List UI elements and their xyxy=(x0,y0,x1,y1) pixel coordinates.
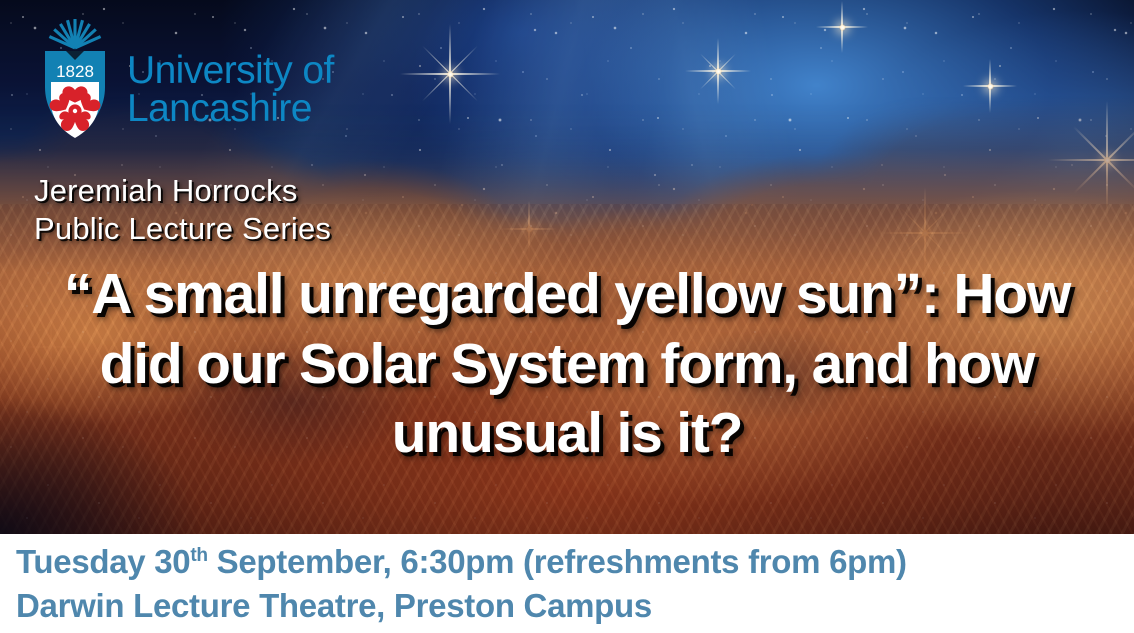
background-nebula-image: 1828 xyxy=(0,0,1134,534)
lecture-series-label: Jeremiah Horrocks Public Lecture Series xyxy=(34,172,331,249)
event-datetime-line: Tuesday 30th September, 6:30pm (refreshm… xyxy=(16,540,1134,584)
university-shield-crest-icon: 1828 xyxy=(36,18,114,140)
radiating-rays-icon xyxy=(49,19,100,48)
lecture-title: “A small unregarded yellow sun”: How did… xyxy=(16,260,1118,469)
event-date-ordinal: th xyxy=(190,545,207,566)
event-details-bar: Tuesday 30th September, 6:30pm (refreshm… xyxy=(0,534,1134,633)
rose-center-highlight xyxy=(73,109,77,113)
event-date-prefix: Tuesday 30 xyxy=(16,543,190,580)
event-date-suffix: September, 6:30pm (refreshments from 6pm… xyxy=(208,543,907,580)
event-venue-line: Darwin Lecture Theatre, Preston Campus xyxy=(16,584,1134,628)
university-wordmark: University of Lancashire xyxy=(127,30,334,128)
university-logo[interactable]: 1828 xyxy=(36,18,334,140)
crest-year-text: 1828 xyxy=(56,62,94,81)
lecture-poster: 1828 xyxy=(0,0,1134,633)
